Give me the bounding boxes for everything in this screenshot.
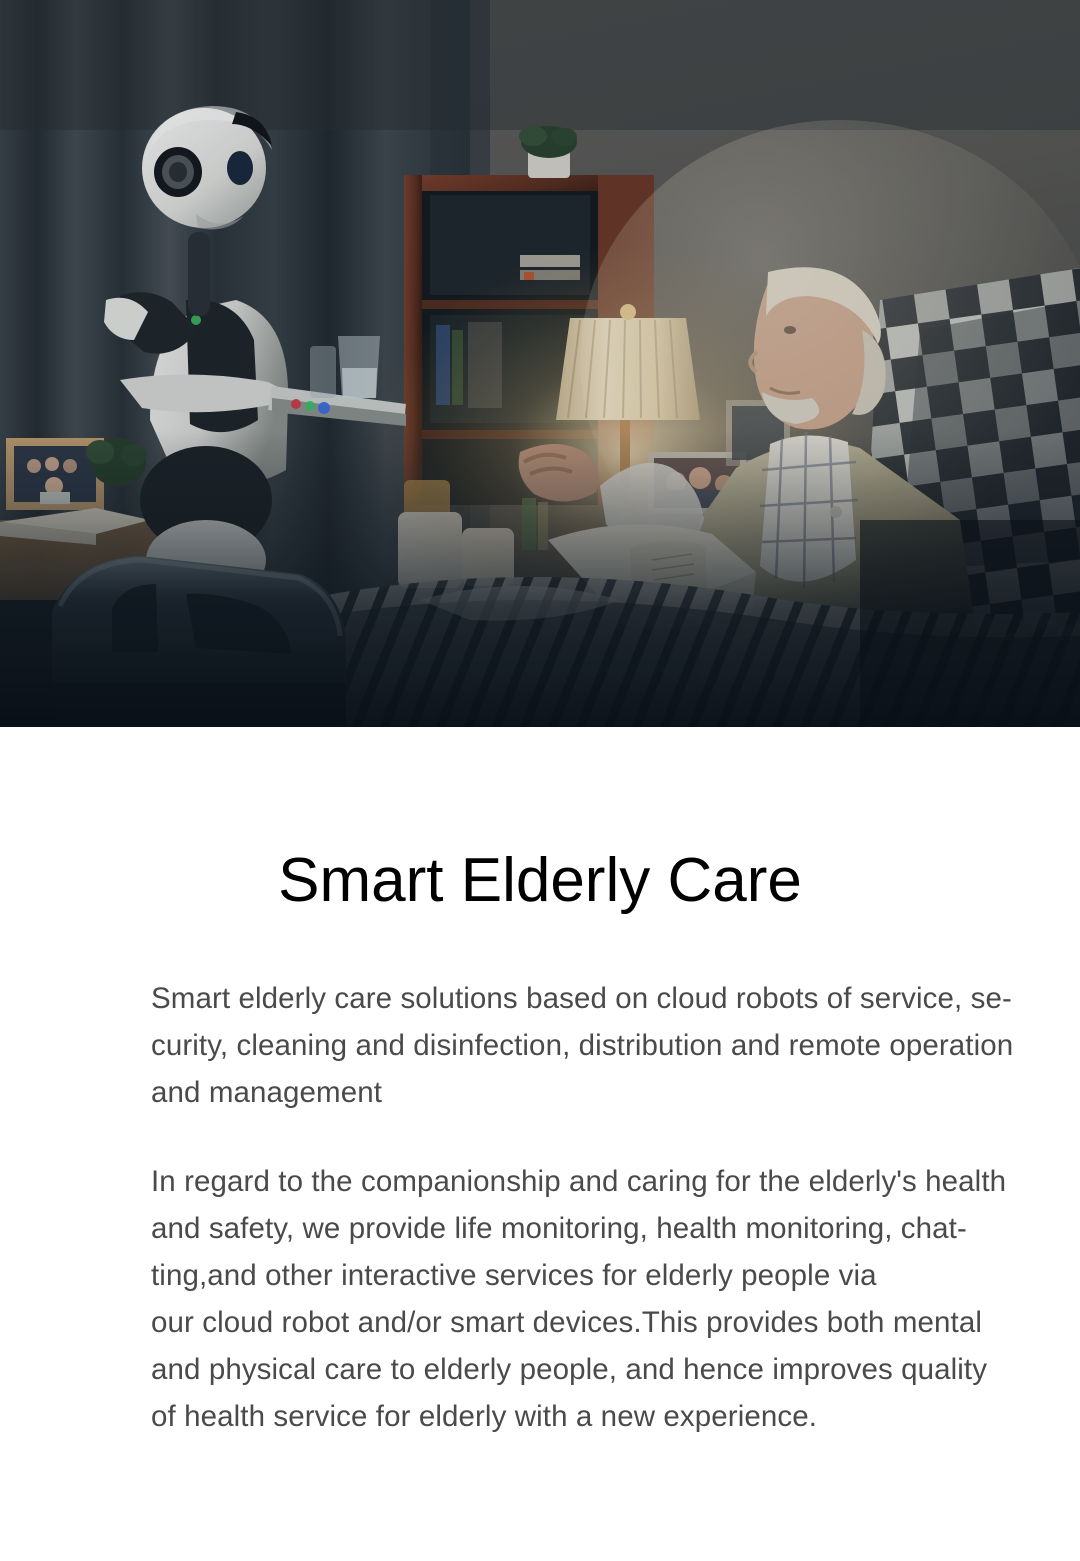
paragraph-line: ting,and other interactive services for …: [151, 1252, 1005, 1299]
paragraph-line: and physical care to elderly people, and…: [151, 1346, 1005, 1393]
hero-image: [0, 0, 1080, 727]
paragraph-line: of health service for elderly with a new…: [151, 1393, 1005, 1440]
paragraph-line: curity, cleaning and disinfection, distr…: [151, 1022, 1005, 1069]
paragraph-line: Smart elderly care solutions based on cl…: [151, 975, 1005, 1022]
paragraph-line: and management: [151, 1069, 1005, 1116]
paragraph-line: and safety, we provide life monitoring, …: [151, 1205, 1005, 1252]
page-title: Smart Elderly Care: [0, 727, 1080, 915]
paragraph-intro: Smart elderly care solutions based on cl…: [151, 975, 1005, 1116]
hero-illustration: [0, 0, 1080, 727]
paragraph-line: In regard to the companionship and carin…: [151, 1158, 1005, 1205]
paragraph-detail: In regard to the companionship and carin…: [151, 1158, 1005, 1440]
body-copy: Smart elderly care solutions based on cl…: [75, 975, 1005, 1440]
content-section: Smart Elderly Care Smart elderly care so…: [0, 727, 1080, 1440]
paragraph-line: our cloud robot and/or smart devices.Thi…: [151, 1299, 1005, 1346]
